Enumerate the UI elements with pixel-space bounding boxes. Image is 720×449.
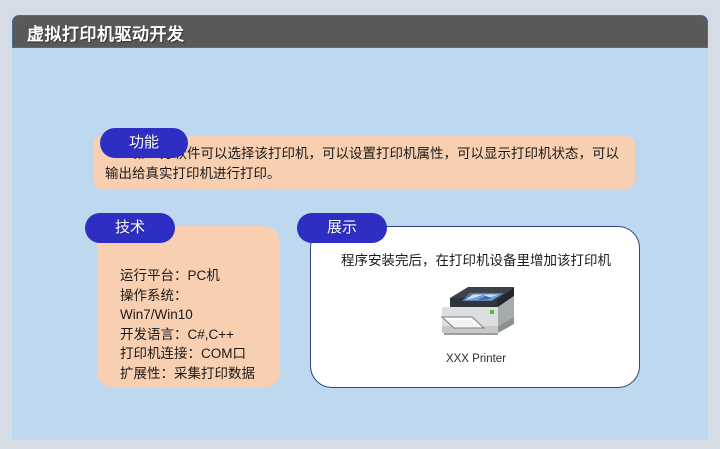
printer-icon (428, 281, 524, 351)
function-label-pill: 功能 (100, 128, 188, 158)
display-caption: 程序安装完后，在打印机设备里增加该打印机 (311, 249, 641, 269)
tech-label-pill: 技术 (85, 213, 175, 243)
printer-name-label: XXX Printer (311, 353, 641, 365)
title-bar: 虚拟打印机驱动开发 (12, 15, 708, 48)
slide-canvas: 第三方软件可以选择该打印机，可以设置打印机属性，可以显示打印机状态，可以输出给真… (12, 48, 708, 440)
tech-list-item: 操作系统： (120, 286, 255, 306)
tech-list-item: 打印机连接：COM口 (120, 344, 255, 364)
tech-list-item: 运行平台：PC机 (120, 266, 255, 286)
printer-icon-wrapper (311, 281, 641, 356)
tech-list: 运行平台：PC机 操作系统： Win7/Win10 开发语言：C#,C++ 打印… (120, 266, 255, 383)
tech-panel: 运行平台：PC机 操作系统： Win7/Win10 开发语言：C#,C++ 打印… (97, 226, 280, 388)
display-label-pill: 展示 (297, 213, 387, 243)
tech-list-item: 开发语言：C#,C++ (120, 325, 255, 345)
page-title: 虚拟打印机驱动开发 (27, 20, 185, 45)
display-panel: 程序安装完后，在打印机设备里增加该打印机 (310, 226, 640, 388)
tech-list-item: Win7/Win10 (120, 305, 255, 325)
slide-root: 虚拟打印机驱动开发 第三方软件可以选择该打印机，可以设置打印机属性，可以显示打印… (12, 15, 708, 440)
tech-list-item: 扩展性：采集打印数据 (120, 364, 255, 384)
